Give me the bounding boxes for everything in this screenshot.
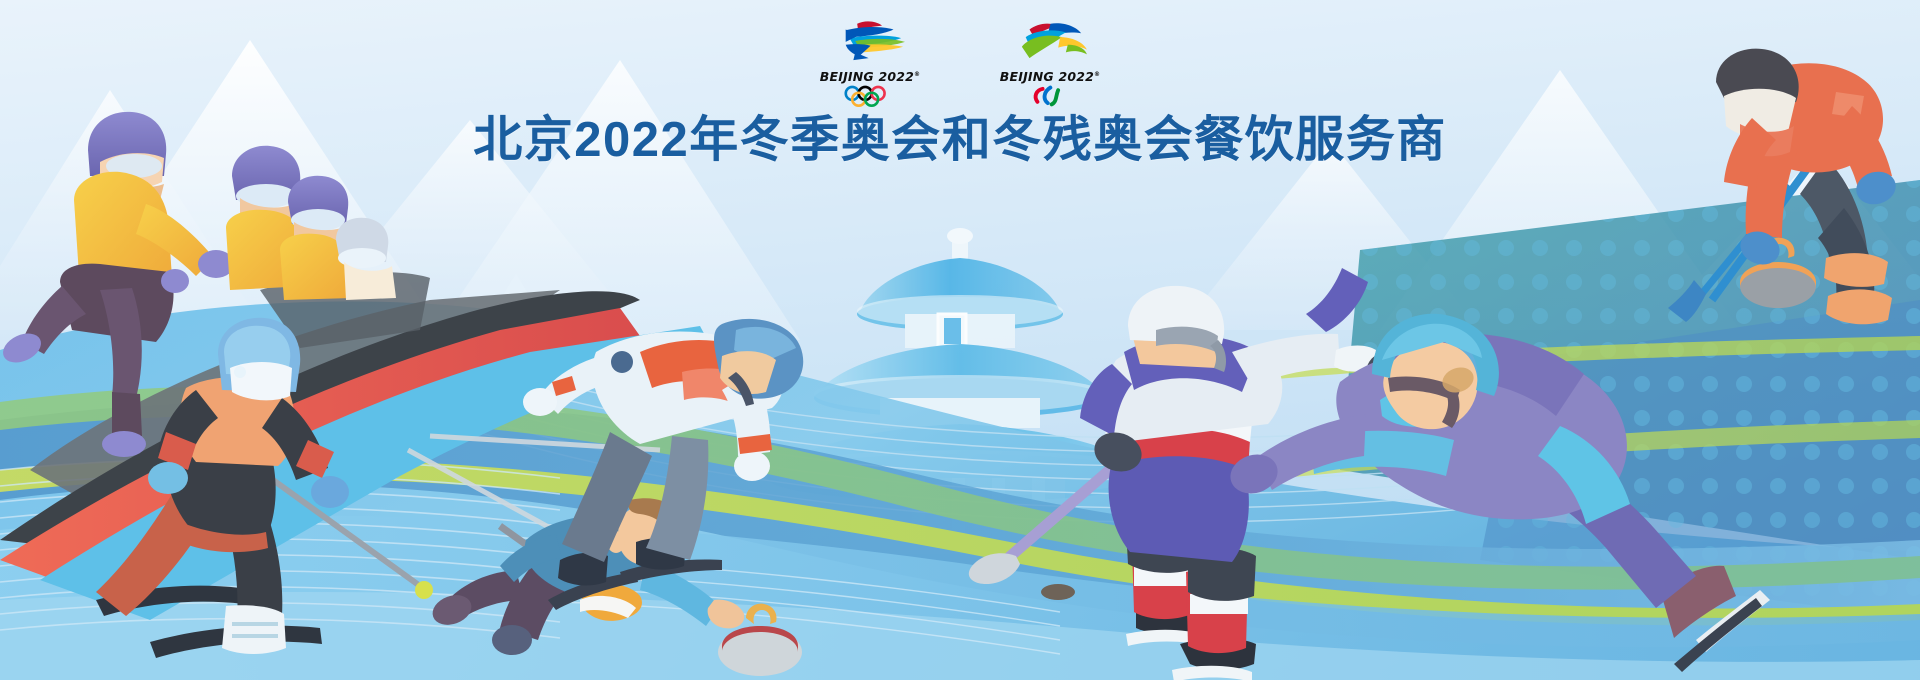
winter-olympics-banner: BEIJING 2022® (0, 0, 1920, 680)
curler-sweeping-icon (1668, 49, 1899, 325)
athletes-layer (0, 0, 1920, 680)
ice-hockey-player-icon (969, 268, 1414, 680)
